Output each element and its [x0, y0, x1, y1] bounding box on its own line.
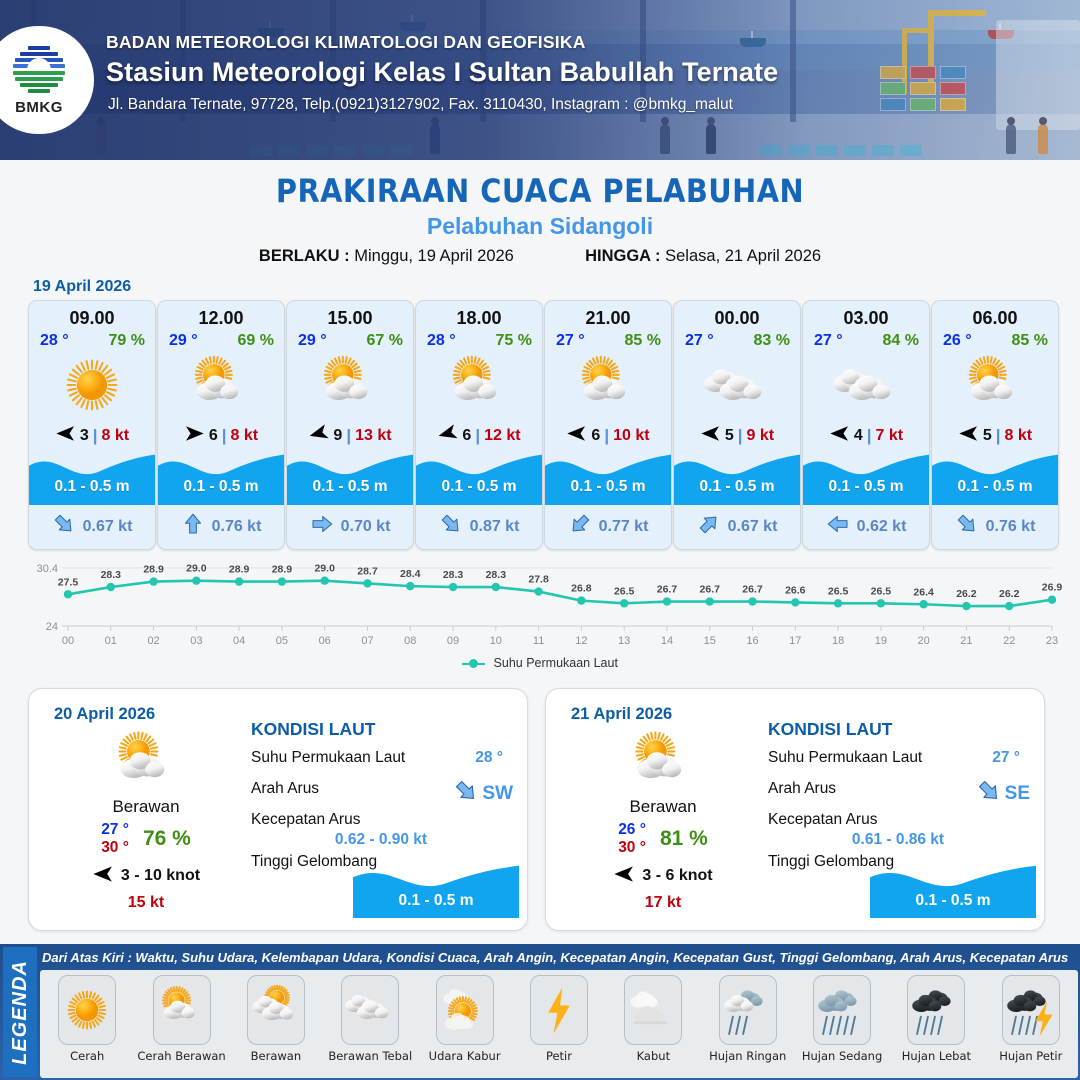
legend-note: Dari Atas Kiri : Waktu, Suhu Udara, Kele…	[42, 950, 1074, 965]
weather-fog-icon	[624, 975, 682, 1045]
card-temperature: 27 °	[556, 332, 585, 350]
legend-item: Cerah Berawan	[134, 970, 228, 1078]
weather-sunny-icon	[29, 352, 155, 418]
wind-direction-arrow-icon	[184, 423, 205, 449]
card-current-speed: 0.76 kt	[986, 518, 1036, 536]
wind-direction-arrow-icon	[437, 423, 458, 449]
current-direction-arrow-icon	[697, 512, 721, 541]
wind-direction-arrow-icon	[92, 863, 114, 890]
page-subtitle: Pelabuhan Sidangoli	[0, 213, 1080, 240]
current-speed-label: Kecepatan Arus	[251, 811, 360, 828]
wind-direction-arrow-icon	[700, 423, 721, 449]
svg-text:26.5: 26.5	[871, 585, 892, 597]
svg-text:29.0: 29.0	[186, 563, 207, 575]
svg-text:28.7: 28.7	[357, 565, 378, 577]
card-current-speed: 0.77 kt	[599, 518, 649, 536]
svg-text:26.8: 26.8	[571, 583, 592, 595]
card-humidity: 69 %	[238, 332, 274, 350]
chart-legend: Suhu Permukaan Laut	[20, 656, 1060, 670]
card-temperature: 28 °	[427, 332, 456, 350]
panel-wave-value: 0.1 - 0.5 m	[870, 892, 1036, 910]
card-time: 03.00	[803, 308, 929, 329]
card-current-speed: 0.67 kt	[728, 518, 778, 536]
svg-text:26.2: 26.2	[956, 588, 977, 600]
forecast-card: 09.00 28 ° 79 % 3 | 8 kt 0.1 - 0.5 m	[28, 300, 156, 550]
svg-text:06: 06	[319, 635, 331, 647]
forecast-day-label: 19 April 2026	[33, 278, 131, 296]
panel-gust: 15 kt	[51, 894, 241, 912]
card-temperature: 27 °	[814, 332, 843, 350]
card-gust-speed: 7 kt	[876, 427, 904, 445]
svg-text:00: 00	[62, 635, 74, 647]
panel-condition: Berawan	[568, 797, 758, 817]
svg-text:28.4: 28.4	[400, 568, 421, 580]
wind-direction-arrow-icon	[829, 423, 850, 449]
bmkg-logo-text: BMKG	[15, 99, 63, 116]
current-direction-label: Arah Arus	[768, 780, 836, 797]
weather-partly-cloudy-icon	[287, 352, 413, 418]
legend-item: Berawan Tebal	[323, 970, 417, 1078]
panel-date: 21 April 2026	[571, 705, 672, 724]
card-time: 21.00	[545, 308, 671, 329]
panel-wind-range: 3 - 10 knot	[121, 867, 200, 885]
svg-text:28.3: 28.3	[486, 569, 507, 581]
current-direction-arrow-icon	[453, 778, 479, 810]
weather-partly-cloudy-icon	[416, 352, 542, 418]
panel-temp-max: 30 °	[101, 839, 129, 857]
svg-text:02: 02	[147, 635, 159, 647]
legend-item-label: Hujan Petir	[999, 1049, 1062, 1063]
contact-line: Jl. Bandara Ternate, 97728, Telp.(0921)3…	[108, 96, 778, 114]
weather-light-rain-icon	[719, 975, 777, 1045]
forecast-card: 12.00 29 ° 69 % 6 | 8 kt	[157, 300, 285, 550]
header-text-block: BADAN METEOROLOGI KLIMATOLOGI DAN GEOFIS…	[106, 32, 778, 114]
svg-text:09: 09	[447, 635, 459, 647]
card-temperature: 27 °	[685, 332, 714, 350]
card-gust-speed: 12 kt	[484, 427, 520, 445]
card-wind-degree: 9	[333, 427, 342, 445]
svg-text:26.4: 26.4	[913, 586, 934, 598]
weather-mostly-cloudy-icon	[247, 975, 305, 1045]
panel-temp-max: 30 °	[618, 839, 646, 857]
card-time: 15.00	[287, 308, 413, 329]
current-direction-label: Arah Arus	[251, 780, 319, 797]
agency-name: BADAN METEOROLOGI KLIMATOLOGI DAN GEOFIS…	[106, 32, 778, 53]
card-wave-height: 0.1 - 0.5 m	[287, 478, 413, 496]
legend-item-label: Berawan Tebal	[328, 1049, 412, 1063]
sea-condition-title: KONDISI LAUT	[768, 719, 1036, 740]
svg-text:03: 03	[190, 635, 202, 647]
panel-wave-graphic: 0.1 - 0.5 m	[353, 860, 519, 918]
card-humidity: 85 %	[1012, 332, 1048, 350]
sst-label: Suhu Permukaan Laut	[251, 749, 405, 766]
card-wind-degree: 4	[854, 427, 863, 445]
weather-cloudy-icon	[674, 352, 800, 418]
svg-text:15: 15	[704, 635, 716, 647]
legend-item-label: Hujan Sedang	[802, 1049, 882, 1063]
svg-text:05: 05	[276, 635, 288, 647]
card-wind-degree: 5	[725, 427, 734, 445]
svg-text:07: 07	[361, 635, 373, 647]
title-block: PRAKIRAAN CUACA PELABUHAN Pelabuhan Sida…	[0, 160, 1080, 266]
card-time: 06.00	[932, 308, 1058, 329]
current-direction-arrow-icon	[439, 512, 463, 541]
card-humidity: 67 %	[367, 332, 403, 350]
svg-text:27.5: 27.5	[58, 576, 79, 588]
svg-text:28.3: 28.3	[443, 569, 464, 581]
legend-item: Hujan Ringan	[701, 970, 795, 1078]
legend-item: Hujan Lebat	[889, 970, 983, 1078]
current-direction-value: SE	[976, 778, 1030, 810]
legend-item-label: Udara Kabur	[429, 1049, 501, 1063]
card-current-speed: 0.67 kt	[83, 518, 133, 536]
panel-temp-min: 26 °	[618, 821, 646, 839]
card-gust-speed: 9 kt	[747, 427, 775, 445]
validity-line: BERLAKU : Minggu, 19 April 2026 HINGGA :…	[0, 247, 1080, 266]
svg-text:26.2: 26.2	[999, 588, 1020, 600]
wave-height-band: 0.1 - 0.5 m	[158, 449, 284, 505]
svg-text:23: 23	[1046, 635, 1058, 647]
svg-text:24: 24	[46, 621, 58, 633]
card-wind-degree: 3	[80, 427, 89, 445]
svg-text:28.9: 28.9	[272, 564, 293, 576]
forecast-card: 18.00 28 ° 75 % 6 | 12 kt	[415, 300, 543, 550]
card-time: 00.00	[674, 308, 800, 329]
forecast-card: 21.00 27 ° 85 % 6 | 10 kt	[544, 300, 672, 550]
legend-item-label: Hujan Lebat	[902, 1049, 971, 1063]
svg-text:26.7: 26.7	[742, 584, 763, 596]
legend-item-label: Cerah Berawan	[137, 1049, 225, 1063]
svg-text:22: 22	[1003, 635, 1015, 647]
wave-height-band: 0.1 - 0.5 m	[287, 449, 413, 505]
legend-item-label: Berawan	[251, 1049, 301, 1063]
svg-text:18: 18	[832, 635, 844, 647]
card-time: 12.00	[158, 308, 284, 329]
card-wind-degree: 6	[591, 427, 600, 445]
card-humidity: 84 %	[883, 332, 919, 350]
svg-text:16: 16	[746, 635, 758, 647]
svg-text:26.5: 26.5	[828, 585, 849, 597]
current-direction-arrow-icon	[52, 512, 76, 541]
chart-legend-label: Suhu Permukaan Laut	[494, 656, 618, 670]
sea-condition-title: KONDISI LAUT	[251, 719, 519, 740]
panel-wave-value: 0.1 - 0.5 m	[353, 892, 519, 910]
daily-summary-row: 20 April 2026 Berawan 27 ° 30 ° 76 %	[28, 688, 1045, 931]
wave-height-band: 0.1 - 0.5 m	[803, 449, 929, 505]
svg-text:26.6: 26.6	[785, 584, 806, 596]
weather-partly-cloudy-icon	[158, 352, 284, 418]
card-current-speed: 0.70 kt	[341, 518, 391, 536]
weather-haze-icon	[436, 975, 494, 1045]
svg-text:28.3: 28.3	[101, 569, 122, 581]
card-current-speed: 0.87 kt	[470, 518, 520, 536]
until-value: Selasa, 21 April 2026	[665, 247, 821, 265]
current-direction-arrow-icon	[955, 512, 979, 541]
current-speed-label: Kecepatan Arus	[768, 811, 877, 828]
forecast-card: 15.00 29 ° 67 % 9 | 13 kt	[286, 300, 414, 550]
svg-text:14: 14	[661, 635, 673, 647]
legend-item-label: Petir	[546, 1049, 572, 1063]
card-wind-degree: 6	[209, 427, 218, 445]
weather-partly-cloudy-icon	[568, 731, 758, 793]
card-humidity: 75 %	[496, 332, 532, 350]
legend-item: Udara Kabur	[417, 970, 511, 1078]
card-humidity: 83 %	[754, 332, 790, 350]
daily-summary-panel: 20 April 2026 Berawan 27 ° 30 ° 76 %	[28, 688, 528, 931]
panel-date: 20 April 2026	[54, 705, 155, 724]
svg-text:30.4: 30.4	[37, 563, 58, 575]
current-direction-arrow-icon	[181, 512, 205, 541]
card-temperature: 26 °	[943, 332, 972, 350]
wind-direction-arrow-icon	[55, 423, 76, 449]
weather-cloudy-icon	[803, 352, 929, 418]
weather-partly-cloudy-icon	[51, 731, 241, 793]
valid-label: BERLAKU :	[259, 247, 350, 265]
current-direction-value: SW	[453, 778, 513, 810]
page-header: BMKG BADAN METEOROLOGI KLIMATOLOGI DAN G…	[0, 0, 1080, 160]
panel-wind-range: 3 - 6 knot	[642, 867, 712, 885]
weather-cloudy-icon	[341, 975, 399, 1045]
weather-partly-cloudy-icon	[932, 352, 1058, 418]
legend-item-label: Hujan Ringan	[709, 1049, 786, 1063]
card-time: 09.00	[29, 308, 155, 329]
panel-condition: Berawan	[51, 797, 241, 817]
panel-humidity: 76 %	[143, 827, 191, 851]
page-title: PRAKIRAAN CUACA PELABUHAN	[0, 172, 1080, 210]
forecast-infographic: BMKG BADAN METEOROLOGI KLIMATOLOGI DAN G…	[0, 0, 1080, 1080]
svg-text:13: 13	[618, 635, 630, 647]
wind-direction-arrow-icon	[566, 423, 587, 449]
legend-item: Berawan	[229, 970, 323, 1078]
card-wave-height: 0.1 - 0.5 m	[29, 478, 155, 496]
card-temperature: 29 °	[169, 332, 198, 350]
current-speed-value: 0.62 - 0.90 kt	[251, 831, 511, 849]
card-gust-speed: 10 kt	[613, 427, 649, 445]
svg-text:11: 11	[533, 635, 544, 647]
panel-gust: 17 kt	[568, 894, 758, 912]
station-name: Stasiun Meteorologi Kelas I Sultan Babul…	[106, 57, 778, 88]
weather-thunderstorm-icon	[1002, 975, 1060, 1045]
wave-height-band: 0.1 - 0.5 m	[29, 449, 155, 505]
current-speed-value: 0.61 - 0.86 kt	[768, 831, 1028, 849]
svg-text:01: 01	[105, 635, 117, 647]
current-direction-arrow-icon	[310, 512, 334, 541]
weather-partly-cloudy-icon	[153, 975, 211, 1045]
legend-item: Cerah	[40, 970, 134, 1078]
weather-sunny-icon	[58, 975, 116, 1045]
svg-text:26.9: 26.9	[1042, 582, 1063, 594]
sst-value: 28 °	[475, 749, 503, 767]
legend-side-title: LEGENDA	[3, 947, 37, 1077]
card-wind-degree: 5	[983, 427, 992, 445]
wave-height-band: 0.1 - 0.5 m	[545, 449, 671, 505]
card-wave-height: 0.1 - 0.5 m	[545, 478, 671, 496]
card-current-speed: 0.76 kt	[212, 518, 262, 536]
card-wave-height: 0.1 - 0.5 m	[674, 478, 800, 496]
forecast-card: 00.00 27 ° 83 % 5 | 9 kt	[673, 300, 801, 550]
wind-direction-arrow-icon	[958, 423, 979, 449]
svg-text:19: 19	[875, 635, 887, 647]
until-label: HINGGA :	[585, 247, 660, 265]
svg-text:27.8: 27.8	[528, 574, 549, 586]
card-wave-height: 0.1 - 0.5 m	[158, 478, 284, 496]
card-gust-speed: 8 kt	[231, 427, 259, 445]
card-humidity: 79 %	[109, 332, 145, 350]
forecast-card: 03.00 27 ° 84 % 4 | 7 kt	[802, 300, 930, 550]
svg-text:29.0: 29.0	[314, 563, 335, 575]
sst-label: Suhu Permukaan Laut	[768, 749, 922, 766]
weather-partly-cloudy-icon	[545, 352, 671, 418]
forecast-card: 06.00 26 ° 85 % 5 | 8 kt	[931, 300, 1059, 550]
legend-item: Hujan Petir	[984, 970, 1078, 1078]
card-wave-height: 0.1 - 0.5 m	[416, 478, 542, 496]
svg-text:12: 12	[575, 635, 587, 647]
weather-moderate-rain-icon	[813, 975, 871, 1045]
current-direction-arrow-icon	[568, 512, 592, 541]
card-gust-speed: 8 kt	[102, 427, 130, 445]
panel-temp-min: 27 °	[101, 821, 129, 839]
svg-text:04: 04	[233, 635, 245, 647]
svg-text:20: 20	[918, 635, 930, 647]
current-direction-arrow-icon	[826, 512, 850, 541]
svg-text:26.5: 26.5	[614, 585, 635, 597]
valid-value: Minggu, 19 April 2026	[354, 247, 514, 265]
sst-value: 27 °	[992, 749, 1020, 767]
bmkg-logo-mark	[9, 44, 69, 98]
svg-text:21: 21	[960, 635, 972, 647]
svg-text:28.9: 28.9	[143, 564, 164, 576]
hourly-forecast-row: 09.00 28 ° 79 % 3 | 8 kt 0.1 - 0.5 m	[28, 300, 1059, 550]
wave-height-band: 0.1 - 0.5 m	[674, 449, 800, 505]
svg-text:17: 17	[789, 635, 801, 647]
sst-chart: 30.42427.50028.30128.90229.00328.90428.9…	[20, 558, 1060, 678]
panel-humidity: 81 %	[660, 827, 708, 851]
card-wave-height: 0.1 - 0.5 m	[803, 478, 929, 496]
wind-direction-arrow-icon	[613, 863, 635, 890]
card-time: 18.00	[416, 308, 542, 329]
svg-text:26.7: 26.7	[657, 584, 678, 596]
card-temperature: 28 °	[40, 332, 69, 350]
card-humidity: 85 %	[625, 332, 661, 350]
legend-items: Cerah Cerah Berawan	[40, 970, 1078, 1078]
legend-strip: LEGENDA Dari Atas Kiri : Waktu, Suhu Uda…	[0, 944, 1080, 1080]
card-wind-degree: 6	[462, 427, 471, 445]
current-direction-arrow-icon	[976, 778, 1002, 810]
card-current-speed: 0.62 kt	[857, 518, 907, 536]
card-temperature: 29 °	[298, 332, 327, 350]
wave-height-band: 0.1 - 0.5 m	[932, 449, 1058, 505]
legend-item: Kabut	[606, 970, 700, 1078]
wind-direction-arrow-icon	[308, 423, 329, 449]
card-gust-speed: 13 kt	[355, 427, 391, 445]
legend-item: Petir	[512, 970, 606, 1078]
svg-text:26.7: 26.7	[700, 584, 721, 596]
weather-heavy-rain-icon	[907, 975, 965, 1045]
panel-wave-graphic: 0.1 - 0.5 m	[870, 860, 1036, 918]
legend-item-label: Kabut	[637, 1049, 670, 1063]
daily-summary-panel: 21 April 2026 Berawan 26 ° 30 ° 81 %	[545, 688, 1045, 931]
card-gust-speed: 8 kt	[1005, 427, 1033, 445]
svg-text:28.9: 28.9	[229, 564, 250, 576]
legend-item-label: Cerah	[70, 1049, 104, 1063]
svg-text:08: 08	[404, 635, 416, 647]
weather-lightning-icon	[530, 975, 588, 1045]
wave-height-band: 0.1 - 0.5 m	[416, 449, 542, 505]
card-wave-height: 0.1 - 0.5 m	[932, 478, 1058, 496]
legend-item: Hujan Sedang	[795, 970, 889, 1078]
svg-text:10: 10	[490, 635, 502, 647]
